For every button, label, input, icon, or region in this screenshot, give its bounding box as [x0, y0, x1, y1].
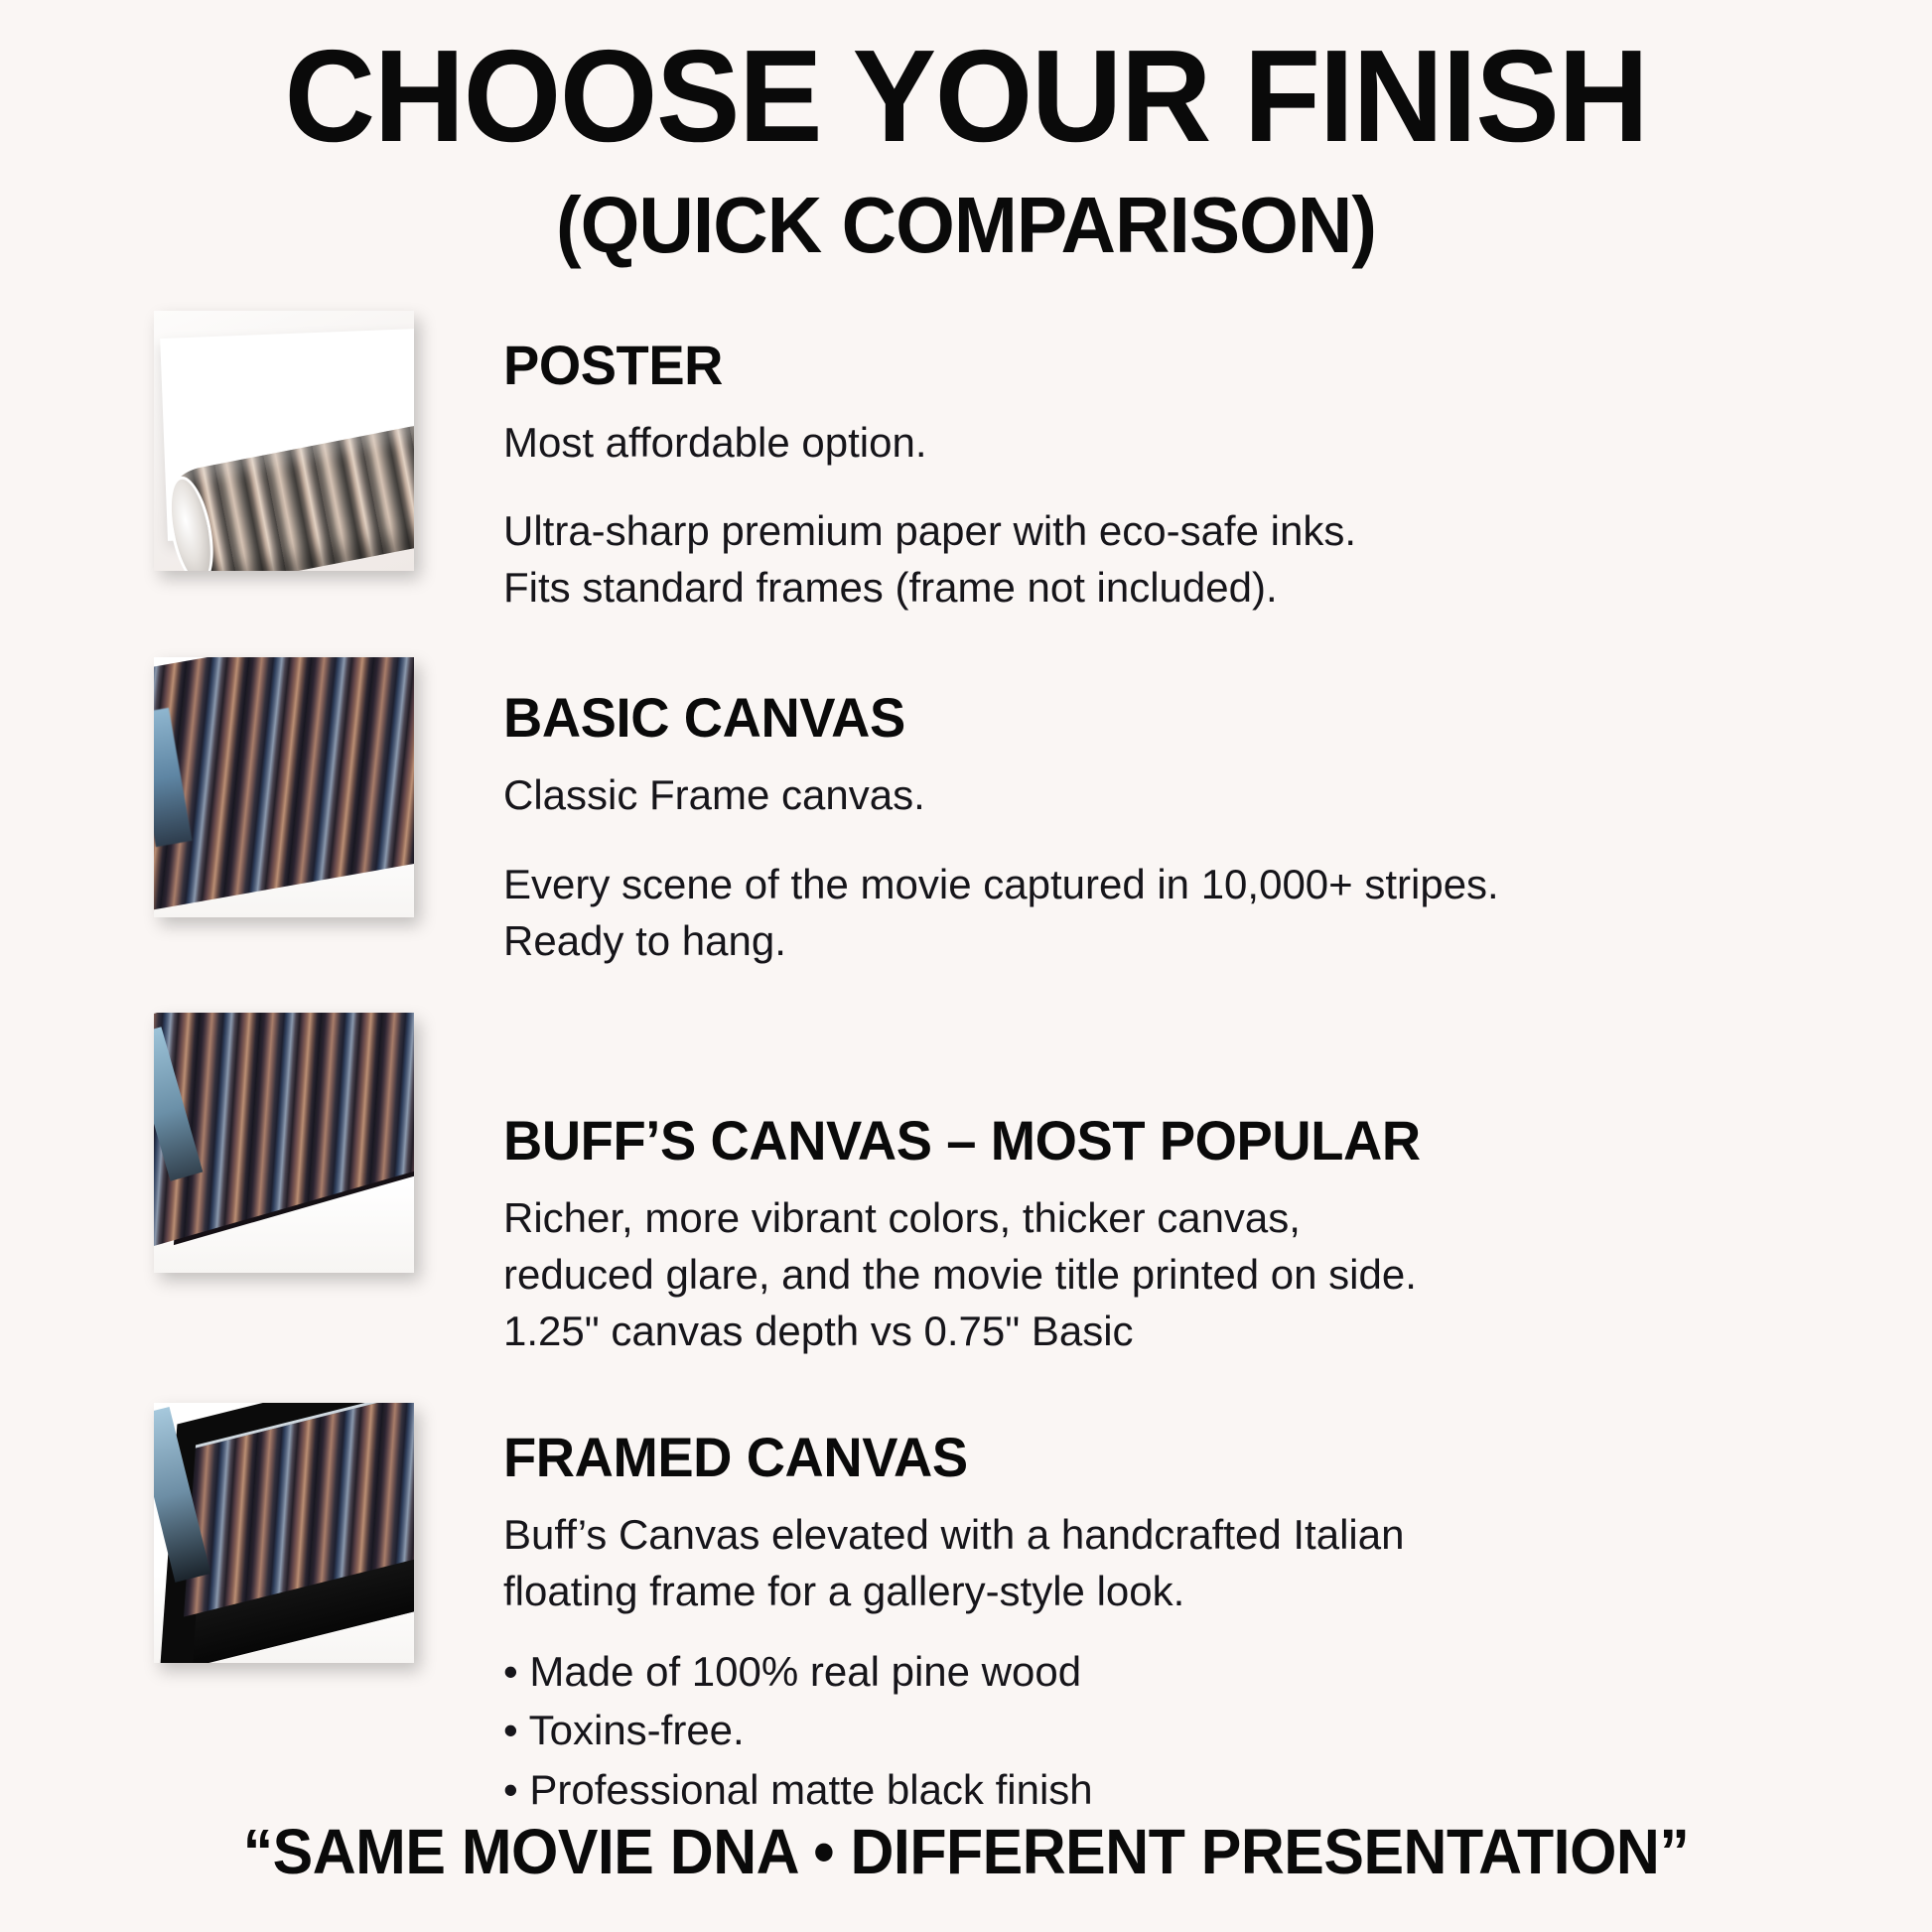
poster-image — [154, 311, 414, 571]
header: CHOOSE YOUR FINISH (QUICK COMPARISON) — [0, 0, 1932, 269]
option-body-line: 1.25" canvas depth vs 0.75" Basic — [503, 1304, 1913, 1360]
option-body-line: floating frame for a gallery-style look. — [503, 1564, 1913, 1620]
poster-thumbnail — [154, 311, 414, 571]
option-title-framed-canvas: FRAMED CANVAS — [503, 1425, 1870, 1489]
framed-canvas-thumbnail — [154, 1403, 414, 1663]
option-body-line: Buff’s Canvas elevated with a handcrafte… — [503, 1507, 1913, 1564]
framed-canvas-image — [154, 1403, 414, 1663]
option-title-basic-canvas: BASIC CANVAS — [503, 685, 1870, 750]
basic-canvas-image — [154, 657, 414, 917]
list-item: Professional matte black finish — [503, 1760, 1913, 1820]
option-title-buffs-canvas: BUFF’S CANVAS – MOST POPULAR — [503, 1108, 1870, 1173]
option-lead-poster: Most affordable option. — [503, 415, 1913, 470]
framed-canvas-bullets: Made of 100% real pine wood Toxins-free.… — [503, 1642, 1913, 1820]
buffs-canvas-image — [154, 1013, 414, 1273]
option-body-line: Every scene of the movie captured in 10,… — [503, 857, 1913, 913]
option-body-line: Richer, more vibrant colors, thicker can… — [503, 1190, 1913, 1247]
option-lead-basic-canvas: Classic Frame canvas. — [503, 767, 1913, 822]
basic-canvas-artwork — [154, 657, 414, 917]
list-item: Toxins-free. — [503, 1701, 1913, 1760]
list-item: Made of 100% real pine wood — [503, 1642, 1913, 1702]
option-row-framed-canvas: FRAMED CANVAS Buff’s Canvas elevated wit… — [0, 1403, 1932, 1819]
option-body-line: Ready to hang. — [503, 913, 1913, 970]
footer: “SAME MOVIE DNA • DIFFERENT PRESENTATION… — [0, 1815, 1932, 1888]
framed-canvas-text: FRAMED CANVAS Buff’s Canvas elevated wit… — [414, 1403, 1913, 1819]
page-subtitle: (QUICK COMPARISON) — [39, 182, 1893, 269]
option-body-line: reduced glare, and the movie title print… — [503, 1247, 1913, 1304]
buffs-canvas-artwork — [154, 1013, 414, 1273]
poster-artwork — [154, 311, 414, 571]
option-title-poster: POSTER — [503, 333, 1870, 397]
basic-canvas-thumbnail — [154, 657, 414, 917]
footer-tagline: “SAME MOVIE DNA • DIFFERENT PRESENTATION… — [49, 1815, 1884, 1888]
option-row-poster: POSTER Most affordable option. Ultra-sha… — [0, 311, 1932, 617]
buffs-canvas-text: BUFF’S CANVAS – MOST POPULAR Richer, mor… — [414, 1013, 1913, 1359]
basic-canvas-text: BASIC CANVAS Classic Frame canvas. Every… — [414, 657, 1913, 969]
poster-text: POSTER Most affordable option. Ultra-sha… — [414, 311, 1913, 617]
option-body-line: Fits standard frames (frame not included… — [503, 560, 1913, 617]
framed-canvas-artwork — [154, 1403, 414, 1663]
page-title: CHOOSE YOUR FINISH — [39, 28, 1893, 166]
option-row-buffs-canvas: BUFF’S CANVAS – MOST POPULAR Richer, mor… — [0, 1013, 1932, 1359]
buffs-canvas-thumbnail — [154, 1013, 414, 1273]
option-body-line: Ultra-sharp premium paper with eco-safe … — [503, 503, 1913, 560]
finish-comparison-infographic: CHOOSE YOUR FINISH (QUICK COMPARISON) PO… — [0, 0, 1932, 1932]
option-row-basic-canvas: BASIC CANVAS Classic Frame canvas. Every… — [0, 657, 1932, 969]
options-list: POSTER Most affordable option. Ultra-sha… — [0, 311, 1932, 1820]
